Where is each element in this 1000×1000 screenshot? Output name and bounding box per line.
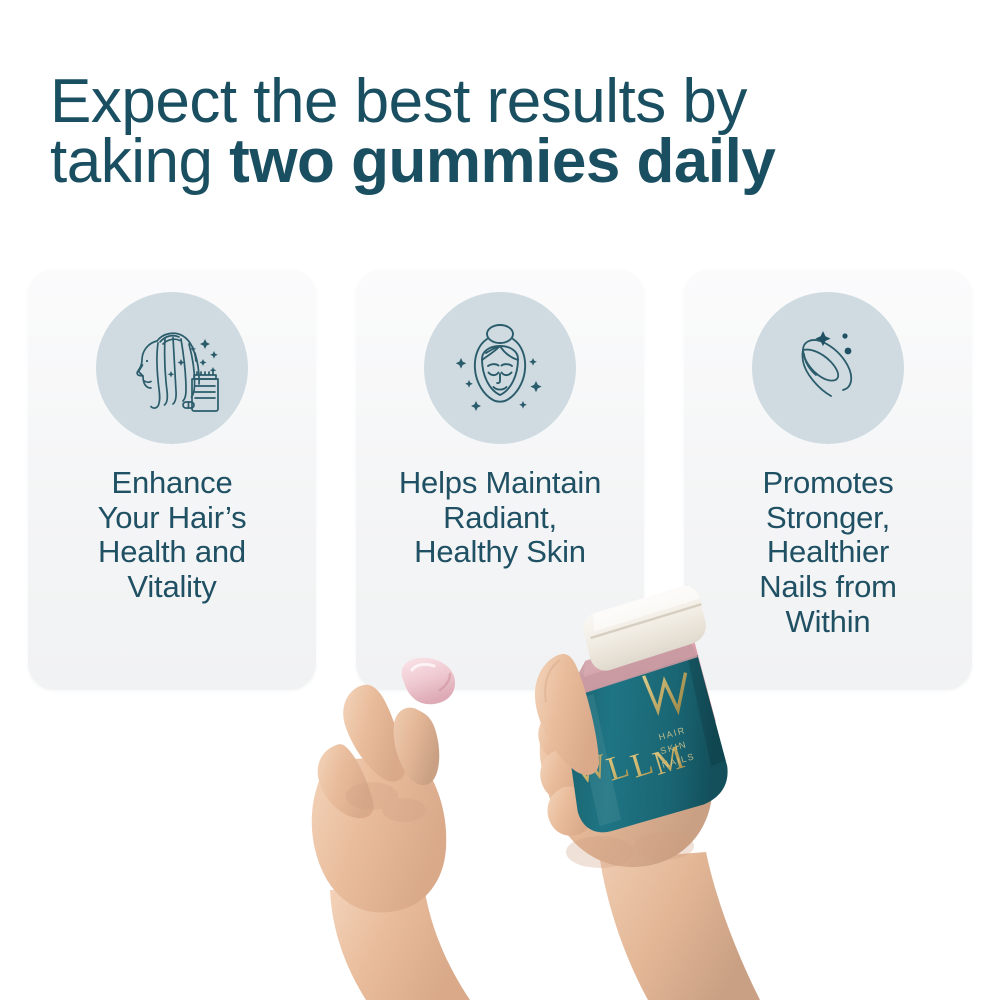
svg-text:W: W <box>570 746 615 792</box>
svg-text:M: M <box>649 738 693 783</box>
card-skin-line-1: Helps Maintain <box>399 465 601 500</box>
benefit-card-skin: Helps Maintain Radiant, Healthy Skin <box>356 270 644 690</box>
benefit-card-hair-text: Enhance Your Hair’s Health and Vitality <box>84 466 261 605</box>
card-hair-line-1: Enhance <box>112 465 233 500</box>
right-hand <box>538 671 760 1000</box>
benefit-card-nails: Promotes Stronger, Healthier Nails from … <box>684 270 972 690</box>
headline-line-1: Expect the best results by <box>50 72 950 132</box>
headline-line-2: taking two gummies daily <box>50 132 950 192</box>
page-headline: Expect the best results by taking two gu… <box>50 72 950 192</box>
svg-text:L: L <box>627 743 662 786</box>
headline-line-2-regular: taking <box>50 127 229 196</box>
svg-text:SKIN: SKIN <box>659 739 688 756</box>
headline-line-1-text: Expect the best results by <box>50 67 747 136</box>
benefit-cards-row: Enhance Your Hair’s Health and Vitality <box>28 270 972 700</box>
svg-text:NAILS: NAILS <box>661 751 696 770</box>
card-nails-line-4: Nails from <box>759 569 897 604</box>
bottle-brand-text: W L L M <box>570 724 692 806</box>
face-skin-icon <box>424 292 576 444</box>
card-nails-line-5: Within <box>786 604 871 639</box>
card-nails-line-3: Healthier <box>767 534 889 569</box>
product-benefits-infographic: Expect the best results by taking two gu… <box>0 0 1000 1000</box>
card-nails-line-1: Promotes <box>762 465 893 500</box>
card-hair-line-3: Health and <box>98 534 246 569</box>
benefit-card-nails-text: Promotes Stronger, Healthier Nails from … <box>745 466 911 640</box>
card-skin-line-2: Radiant, <box>443 500 557 535</box>
fingernail-icon <box>752 292 904 444</box>
svg-text:L: L <box>603 746 638 789</box>
svg-text:HAIR: HAIR <box>657 725 687 742</box>
bottle-label-lines: HAIR SKIN NAILS <box>657 724 697 770</box>
card-skin-line-3: Healthy Skin <box>414 534 586 569</box>
card-hair-line-4: Vitality <box>127 569 216 604</box>
hair-strands-icon <box>96 292 248 444</box>
card-nails-line-2: Stronger, <box>766 500 890 535</box>
left-hand <box>312 658 470 1000</box>
headline-line-2-bold: two gummies daily <box>229 127 775 196</box>
benefit-card-hair: Enhance Your Hair’s Health and Vitality <box>28 270 316 690</box>
card-hair-line-2: Your Hair’s <box>98 500 247 535</box>
benefit-card-skin-text: Helps Maintain Radiant, Healthy Skin <box>385 466 615 570</box>
